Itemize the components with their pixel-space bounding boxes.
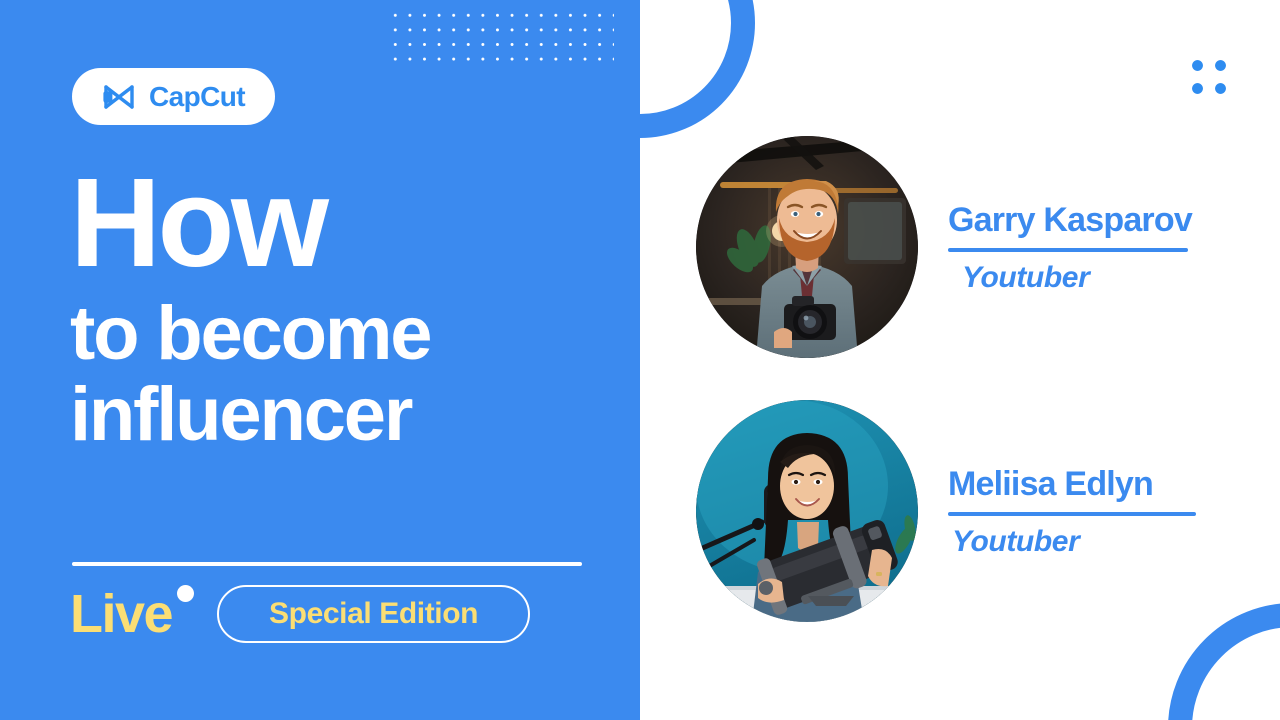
speaker-info-1: Garry Kasparov Youtuber: [944, 201, 1192, 293]
page-title: How to become influencer: [70, 163, 630, 455]
live-indicator-dot-icon: [177, 585, 194, 602]
speaker-role: Youtuber: [944, 263, 1192, 293]
capcut-logo-text: CapCut: [149, 83, 245, 111]
nine-dot-grid-icon: [1186, 54, 1232, 100]
capcut-logo[interactable]: CapCut: [72, 68, 275, 125]
speaker-name-underline: [948, 248, 1188, 252]
speaker-name: Meliisa Edlyn: [944, 465, 1196, 503]
speaker-name-underline: [948, 512, 1196, 516]
speaker-info-2: Meliisa Edlyn Youtuber: [944, 465, 1196, 557]
capcut-hourglass-icon: [102, 82, 140, 112]
speaker-card-2[interactable]: Meliisa Edlyn Youtuber: [696, 400, 1196, 622]
poster-canvas: CapCut How to become influencer Live Spe…: [0, 0, 1280, 720]
left-blue-panel: CapCut How to become influencer Live Spe…: [0, 0, 640, 720]
avatar-2: [696, 400, 918, 622]
special-edition-label: Special Edition: [269, 599, 478, 629]
headline-line-1: How: [70, 163, 630, 284]
live-badge: Live: [70, 587, 172, 641]
live-badge-row: Live Special Edition: [70, 583, 530, 645]
horizontal-divider: [72, 562, 582, 566]
speaker-role: Youtuber: [944, 527, 1196, 557]
headline-line-2: to become: [70, 294, 630, 375]
dot-grid-pattern-icon: [388, 8, 614, 62]
speaker-name: Garry Kasparov: [944, 201, 1192, 239]
special-edition-button[interactable]: Special Edition: [217, 585, 530, 643]
headline-line-3: influencer: [70, 375, 630, 456]
avatar-1: [696, 136, 918, 358]
speaker-card-1[interactable]: Garry Kasparov Youtuber: [696, 136, 1192, 358]
live-label: Live: [70, 584, 172, 644]
